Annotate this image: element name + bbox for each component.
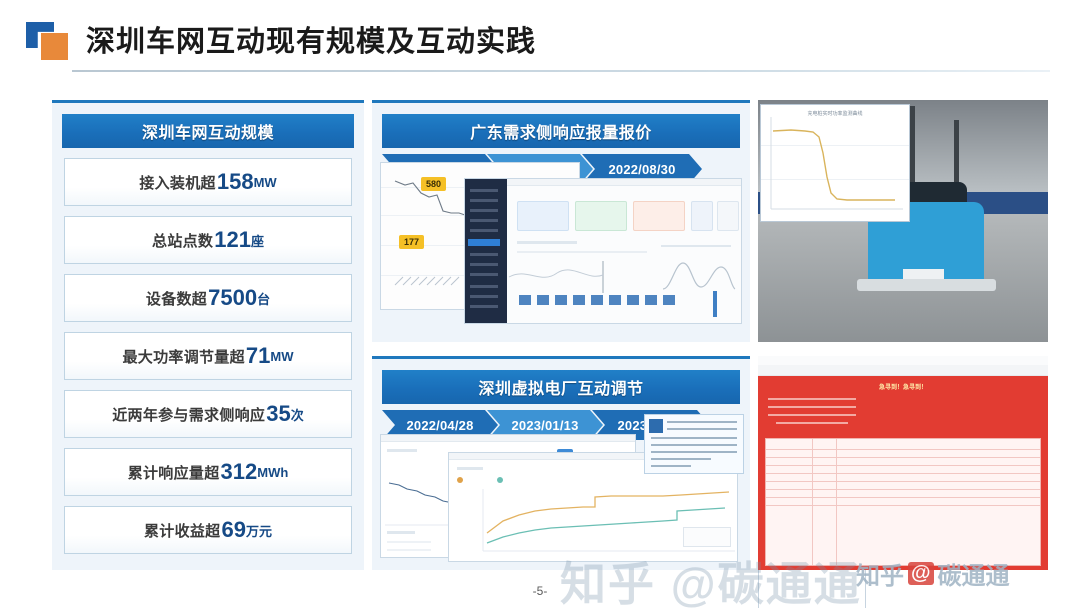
panel-shenzhen-scale: 深圳车网互动规模 接入装机超 158 MW 总站点数 121 座 设备数超 75… (52, 100, 364, 570)
stat-label: 累计收益超 (144, 520, 221, 541)
logo-mark (26, 22, 74, 62)
stat-label: 累计响应量超 (128, 462, 220, 483)
dashboard-sidebar (465, 179, 507, 323)
stat-row: 累计响应量超 312 MWh (64, 448, 352, 496)
stat-row: 接入装机超 158 MW (64, 158, 352, 206)
panel-header-vpp: 深圳虚拟电厂互动调节 (382, 370, 740, 404)
watermark-background: 知乎 @碳通通 (560, 548, 862, 608)
stat-label: 近两年参与需求侧响应 (112, 404, 265, 425)
watermark-at-icon: @ (908, 562, 934, 585)
charging-post (954, 120, 959, 186)
stat-row: 累计收益超 69 万元 (64, 506, 352, 554)
stat-label: 总站点数 (152, 230, 213, 251)
stat-unit: 次 (291, 405, 304, 424)
stat-unit: MW (254, 175, 277, 190)
stat-unit: 座 (251, 231, 264, 250)
slide-title-bar: 深圳车网互动现有规模及互动实践 (0, 0, 1080, 78)
stat-label: 最大功率调节量超 (123, 346, 245, 367)
stat-label: 设备数超 (146, 288, 207, 309)
panel-header-label: 深圳车网互动规模 (142, 119, 274, 143)
panel-topline (372, 356, 750, 359)
panel-v2g-control: V2G双向互动调控 充电桩实时功率监测曲线 (758, 100, 1048, 342)
stat-list: 接入装机超 158 MW 总站点数 121 座 设备数超 7500 台 最大功率… (64, 158, 352, 564)
stat-label: 接入装机超 (139, 172, 216, 193)
stat-row: 设备数超 7500 台 (64, 274, 352, 322)
stat-row: 最大功率调节量超 71 MW (64, 332, 352, 380)
timeline-step-label: 2022/08/30 (608, 162, 675, 177)
stat-unit: 台 (257, 289, 270, 308)
panel-header-label: 广东需求侧响应报量报价 (470, 119, 652, 143)
stat-value: 7500 (208, 285, 257, 311)
chart-label-mid: 177 (399, 235, 424, 249)
stat-row: 近两年参与需求侧响应 35 次 (64, 390, 352, 438)
panel-topline (372, 100, 750, 103)
page-number: -5- (0, 584, 1080, 598)
photo-ev-charging-garage[interactable]: 充电桩实时功率监测曲线 (758, 100, 1032, 286)
stat-unit: MW (270, 349, 293, 364)
stat-value: 35 (266, 401, 290, 427)
timeline-step-label: 2022/04/28 (406, 418, 473, 433)
chart-label-peak: 580 (421, 177, 446, 191)
panel-platform-business: 平台建设+商业模式探索 (758, 356, 1048, 570)
screenshot-dashboard[interactable] (464, 178, 742, 324)
stat-value: 69 (222, 517, 246, 543)
callout-note-card[interactable] (644, 414, 744, 474)
overlay-power-chart[interactable]: 充电桩实时功率监测曲线 (760, 104, 910, 222)
note-icon (649, 419, 663, 433)
panel-header-scale: 深圳车网互动规模 (62, 114, 354, 148)
parking-stall-line (857, 279, 996, 286)
stat-value: 312 (221, 459, 258, 485)
stat-row: 总站点数 121 座 (64, 216, 352, 264)
stat-value: 71 (246, 343, 270, 369)
panel-topline (52, 100, 364, 103)
timeline-step-label: 2023/01/13 (511, 418, 578, 433)
stat-value: 158 (217, 169, 254, 195)
panel-virtual-power-plant: 深圳虚拟电厂互动调节 2022/04/28 2023/01/13 2023/02… (372, 356, 750, 570)
panel-header-guangdong: 广东需求侧响应报量报价 (382, 114, 740, 148)
stat-unit: MWh (257, 465, 288, 480)
panel-guangdong-demand-response: 广东需求侧响应报量报价 2021/05/22 …… 2022/08/30 (372, 100, 750, 342)
slide-root: 深圳车网互动现有规模及互动实践 深圳车网互动规模 接入装机超 158 MW 总站… (0, 0, 1080, 608)
title-divider (72, 70, 1050, 72)
page-title: 深圳车网互动现有规模及互动实践 (86, 18, 536, 60)
stat-value: 121 (214, 227, 251, 253)
panel-header-label: 深圳虚拟电厂互动调节 (478, 375, 643, 399)
stat-unit: 万元 (246, 521, 272, 540)
logo-orange-shape (41, 33, 68, 60)
